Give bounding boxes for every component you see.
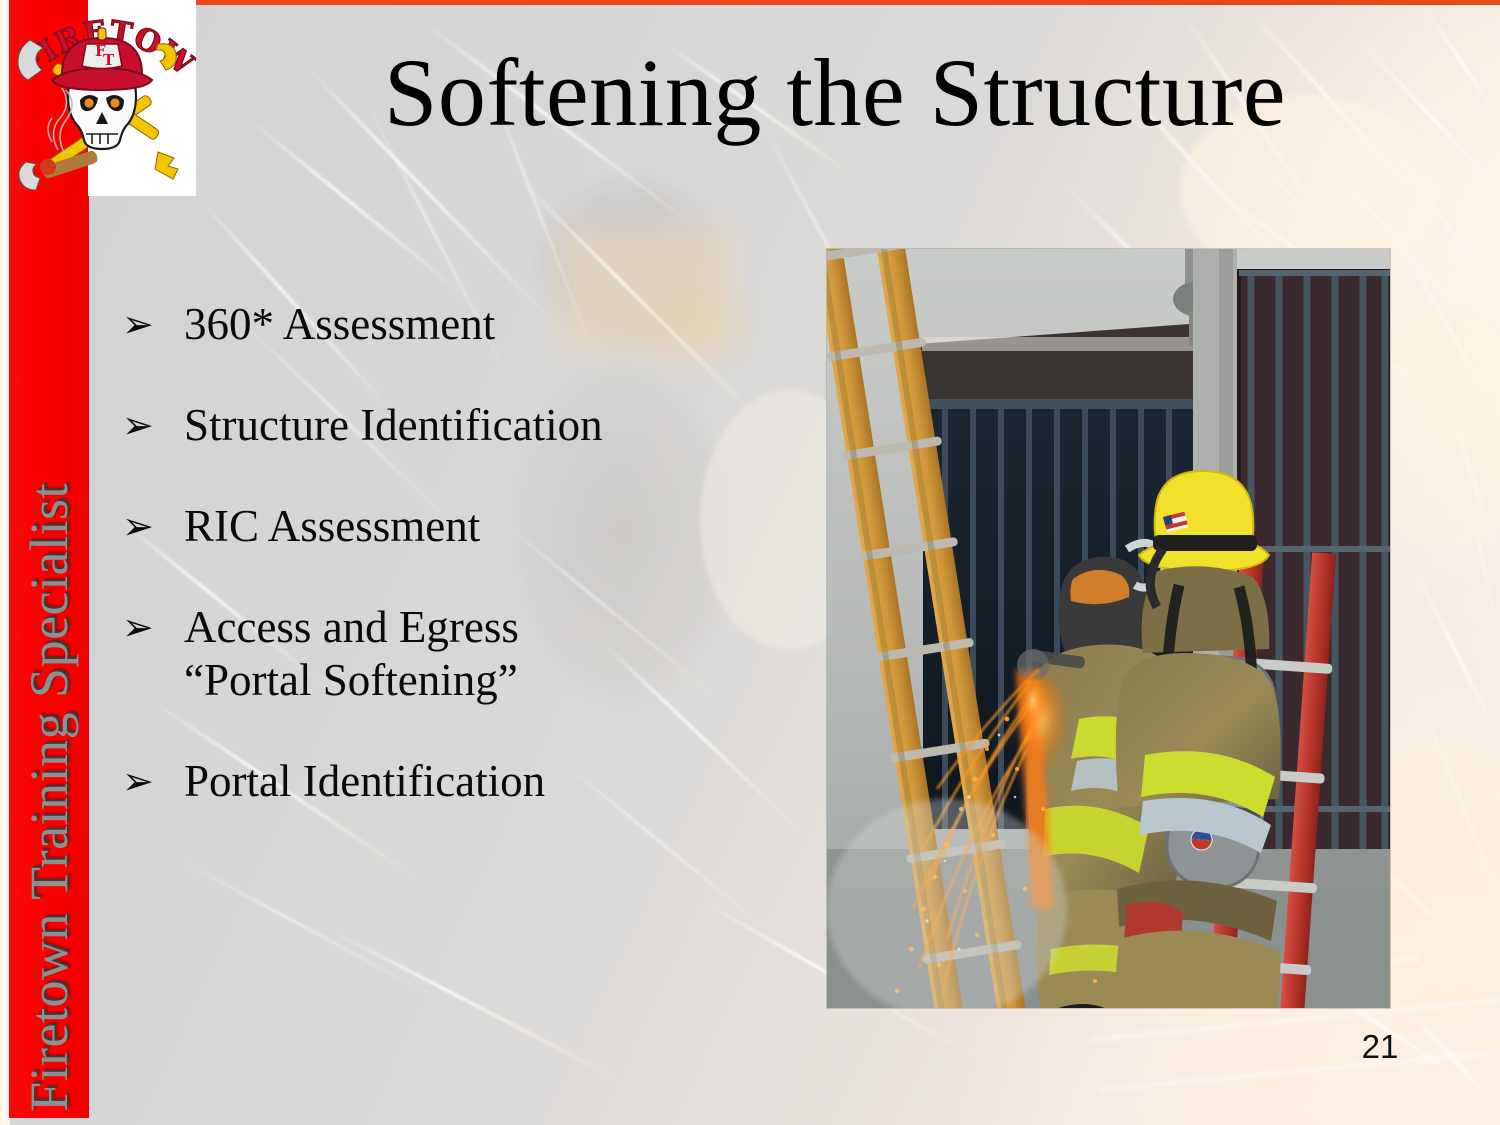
bullet-item: ➢ Structure Identification — [122, 399, 812, 452]
bullet-item: ➢ Access and Egress “Portal Softening” — [122, 601, 812, 707]
svg-text:T: T — [103, 51, 115, 69]
arrow-bullet-icon: ➢ — [122, 500, 184, 552]
slide-softening-the-structure: Firetown Training Specialist FIRETOWN — [0, 0, 1500, 1125]
bullet-item: ➢ RIC Assessment — [122, 500, 812, 553]
bullet-text: Portal Identification — [184, 755, 812, 808]
bullet-list: ➢ 360* Assessment ➢ Structure Identifica… — [122, 298, 812, 809]
arrow-bullet-icon: ➢ — [122, 399, 184, 451]
page-number: 21 — [1340, 1028, 1420, 1066]
bullet-text: 360* Assessment — [184, 298, 812, 351]
arrow-bullet-icon: ➢ — [122, 601, 184, 653]
bullet-text: RIC Assessment — [184, 500, 812, 553]
arrow-bullet-icon: ➢ — [122, 298, 184, 350]
bullet-item: ➢ Portal Identification — [122, 755, 812, 808]
bullet-text-line2: “Portal Softening” — [184, 654, 812, 707]
arrow-bullet-icon: ➢ — [122, 755, 184, 807]
slide-title: Softening the Structure — [210, 42, 1460, 144]
firetown-logo: FIRETOWN — [8, 0, 196, 196]
bullet-item: ➢ 360* Assessment — [122, 298, 812, 351]
bullet-text-line1: Access and Egress — [184, 602, 519, 652]
top-accent-rule — [0, 0, 1500, 5]
bullet-text-multiline: Access and Egress “Portal Softening” — [184, 601, 812, 707]
bullet-text: Structure Identification — [184, 399, 812, 452]
firefighters-cutting-security-gate-photo: LAFD — [827, 249, 1390, 1008]
sidebar-vertical-label: Firetown Training Specialist — [22, 483, 76, 1112]
